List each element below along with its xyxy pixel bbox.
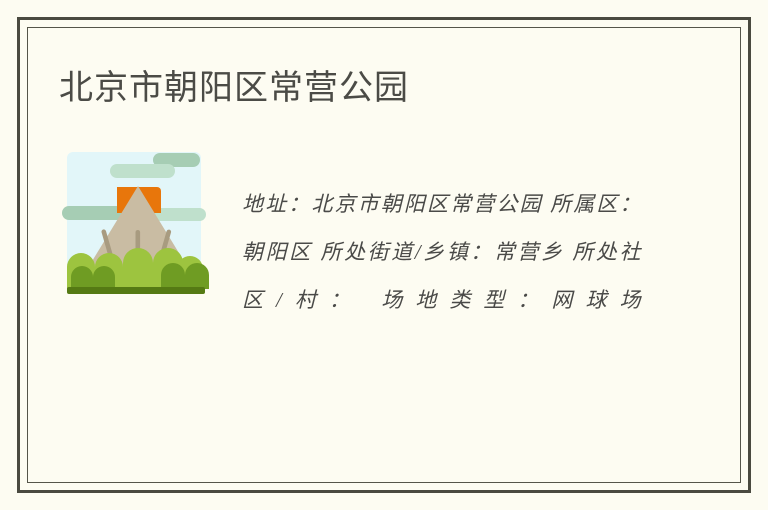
venue-details-text: 地址：北京市朝阳区常营公园 所属区：朝阳区 所处街道/乡镇：常营乡 所处社区/村… <box>242 180 642 372</box>
info-card: 北京市朝阳区常营公园 <box>17 17 751 493</box>
volcano-illustration <box>62 145 214 297</box>
volcano-icon <box>62 145 214 297</box>
page-title: 北京市朝阳区常营公园 <box>59 66 409 110</box>
